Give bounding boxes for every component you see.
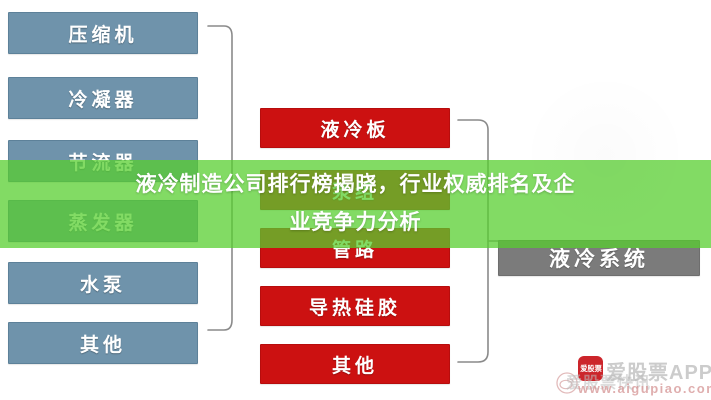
headline-line-1: 液冷制造公司排行榜揭晓，行业权威排名及企 (136, 166, 576, 204)
headline-line-2: 业竞争力分析 (290, 204, 422, 242)
screenshot-root: 压缩机 冷凝器 节流器 蒸发器 水泵 其他 液冷板 泵组 管路 导热硅胶 其他 … (0, 0, 711, 400)
mid-box-thermal-silicone: 导热硅胶 (260, 286, 450, 326)
ghost-watermark (520, 70, 690, 240)
left-box-water-pump: 水泵 (8, 262, 198, 304)
mid-box-cold-plate: 液冷板 (260, 108, 450, 148)
watermark-site-url: www.aigupiao.com (578, 381, 711, 396)
left-box-other: 其他 (8, 322, 198, 364)
left-box-compressor: 压缩机 (8, 12, 198, 54)
mid-box-other: 其他 (260, 344, 450, 384)
left-box-condenser: 冷凝器 (8, 77, 198, 119)
